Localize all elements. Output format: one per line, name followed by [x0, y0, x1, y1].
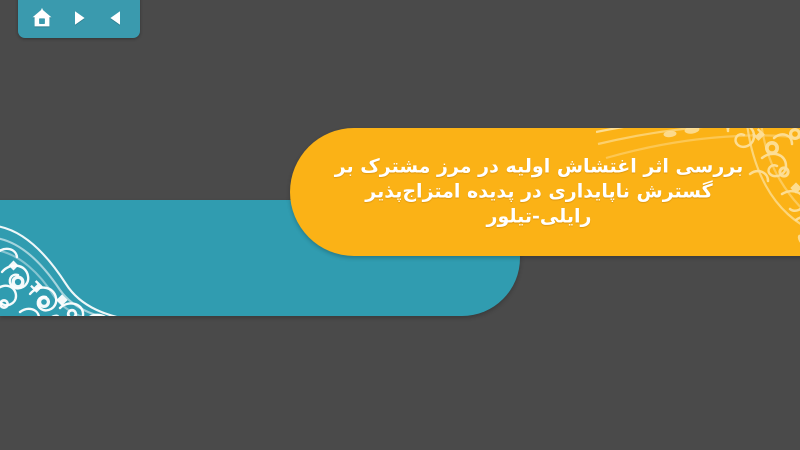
title-panel: بررسی اثر اغتشاش اولیه در مرز مشترک بر گ…: [290, 128, 800, 256]
home-button[interactable]: [27, 4, 57, 32]
title-line-1: بررسی اثر اغتشاش اولیه در مرز مشترک بر: [314, 154, 764, 179]
slide-canvas: بررسی اثر اغتشاش اولیه در مرز مشترک بر گ…: [0, 0, 800, 450]
back-triangle-icon: [107, 9, 125, 27]
title-line-2: گسترش ناپایداری در پدیده امتزاج‌پذیر: [314, 179, 764, 204]
home-icon: [31, 8, 53, 28]
forward-button[interactable]: [64, 4, 94, 32]
navigation-bar: [18, 0, 140, 38]
title-line-3: رایلی-تیلور: [314, 205, 764, 230]
page-title: بررسی اثر اغتشاش اولیه در مرز مشترک بر گ…: [290, 154, 800, 229]
back-button[interactable]: [101, 4, 131, 32]
forward-triangle-icon: [70, 9, 88, 27]
arabesque-ornament-mirrored-icon: [0, 200, 196, 316]
